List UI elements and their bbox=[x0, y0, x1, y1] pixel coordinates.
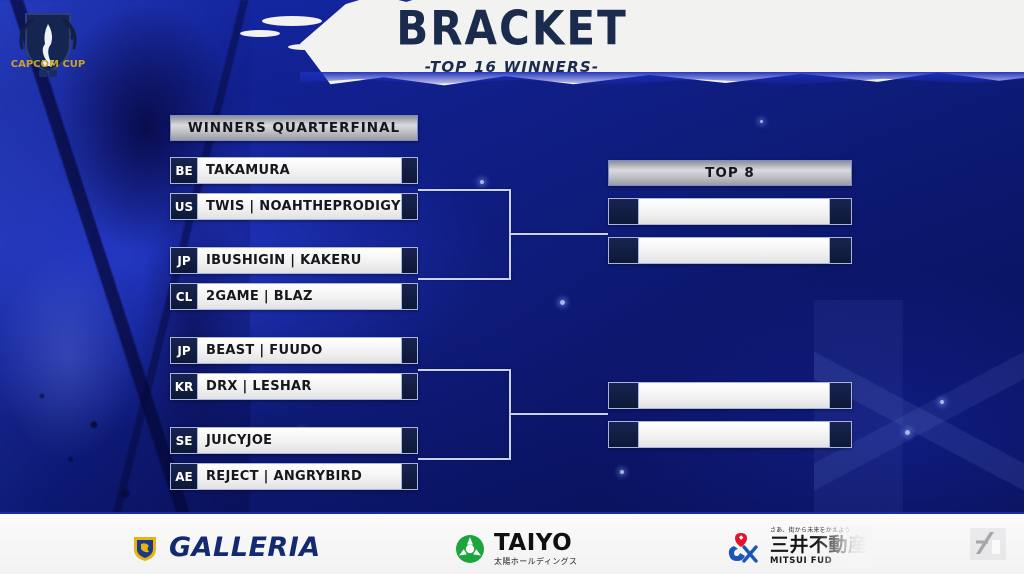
svg-text:CAPCOM CUP: CAPCOM CUP bbox=[11, 59, 85, 70]
taiyo-logo-icon bbox=[455, 534, 485, 564]
sponsor-tagline: さあ、街から未来をかえよう bbox=[770, 528, 868, 534]
player-name bbox=[639, 199, 829, 224]
score-box bbox=[401, 194, 417, 219]
bracket-slot-top8[interactable] bbox=[608, 382, 852, 409]
round-header-winners-quarterfinal: WINNERS QUARTERFINAL bbox=[170, 115, 418, 141]
bracket-slot-top8[interactable] bbox=[608, 198, 852, 225]
country-code bbox=[609, 238, 639, 263]
bracket-slot[interactable]: KR DRX | LESHAR bbox=[170, 373, 418, 400]
country-code: JP bbox=[171, 248, 198, 273]
player-name: IBUSHIGIN | KAKERU bbox=[198, 248, 401, 273]
bracket-slot[interactable]: BE TAKAMURA bbox=[170, 157, 418, 184]
score-box bbox=[401, 158, 417, 183]
player-name bbox=[639, 383, 829, 408]
score-box bbox=[401, 464, 417, 489]
sparkle bbox=[620, 470, 624, 474]
country-code: CL bbox=[171, 284, 198, 309]
mitsui-ampersand-icon bbox=[725, 530, 761, 564]
round-header-top-8: TOP 8 bbox=[608, 160, 852, 186]
banner-wisp bbox=[262, 16, 322, 26]
player-name: JUICYJOE bbox=[198, 428, 401, 453]
country-code: JP bbox=[171, 338, 198, 363]
player-name: TAKAMURA bbox=[198, 158, 401, 183]
player-name bbox=[639, 422, 829, 447]
bracket-slot[interactable]: CL 2GAME | BLAZ bbox=[170, 283, 418, 310]
sponsor-text-block: TAIYO 太陽ホールディングス bbox=[494, 532, 577, 566]
sponsor-name: GALLERIA bbox=[169, 532, 321, 563]
bracket-slot[interactable]: SE JUICYJOE bbox=[170, 427, 418, 454]
score-box bbox=[401, 374, 417, 399]
sponsor-galleria: GALLERIA bbox=[130, 532, 321, 563]
score-box bbox=[401, 338, 417, 363]
bracket-slot-top8[interactable] bbox=[608, 237, 852, 264]
player-name: DRX | LESHAR bbox=[198, 374, 401, 399]
banner-wisp bbox=[288, 44, 322, 50]
player-name: 2GAME | BLAZ bbox=[198, 284, 401, 309]
bracket-slot[interactable]: US TWIS | NOAHTHEPRODIGY bbox=[170, 193, 418, 220]
score-box bbox=[401, 248, 417, 273]
country-code: US bbox=[171, 194, 198, 219]
country-code bbox=[609, 383, 639, 408]
player-name: TWIS | NOAHTHEPRODIGY bbox=[198, 194, 401, 219]
bracket-connector bbox=[418, 458, 511, 460]
bracket-connector bbox=[418, 278, 511, 280]
sparkle bbox=[905, 430, 910, 435]
country-code: AE bbox=[171, 464, 198, 489]
capcom-cup-logo: CAPCOM CUP bbox=[6, 4, 90, 82]
bracket-slot[interactable]: JP IBUSHIGIN | KAKERU bbox=[170, 247, 418, 274]
country-code bbox=[609, 199, 639, 224]
score-box bbox=[829, 383, 851, 408]
score-box bbox=[829, 199, 851, 224]
galleria-shield-icon bbox=[130, 533, 160, 563]
bracket-slot[interactable]: JP BEAST | FUUDO bbox=[170, 337, 418, 364]
sparkle bbox=[760, 120, 763, 123]
sponsor-taiyo: TAIYO 太陽ホールディングス bbox=[455, 532, 577, 566]
sponsor-mitsui: さあ、街から未来をかえよう 三井不動産 MITSUI FUD bbox=[725, 528, 868, 566]
sponsor-footer: GALLERIA TAIYO 太陽ホールディングス bbox=[0, 512, 1024, 574]
bracket-connector bbox=[418, 189, 511, 191]
sparkle bbox=[940, 400, 944, 404]
page-title: BRACKET bbox=[396, 5, 628, 52]
player-name: REJECT | ANGRYBIRD bbox=[198, 464, 401, 489]
sponsor-corner-mark bbox=[966, 524, 1010, 564]
partial-logo-icon bbox=[966, 524, 1010, 564]
sparkle bbox=[560, 300, 565, 305]
broadcast-overlay: BRACKET -TOP 16 WINNERS- CAPCOM CUP WINN… bbox=[0, 0, 1024, 574]
bracket-slot-top8[interactable] bbox=[608, 421, 852, 448]
bracket-slot[interactable]: AE REJECT | ANGRYBIRD bbox=[170, 463, 418, 490]
bracket-connector bbox=[509, 233, 608, 235]
bracket-connector bbox=[509, 413, 608, 415]
sponsor-name: TAIYO bbox=[494, 532, 577, 555]
country-code: BE bbox=[171, 158, 198, 183]
player-name: BEAST | FUUDO bbox=[198, 338, 401, 363]
player-name bbox=[639, 238, 829, 263]
bracket-connector bbox=[418, 369, 511, 371]
score-box bbox=[401, 428, 417, 453]
score-box bbox=[401, 284, 417, 309]
sparkle bbox=[480, 180, 484, 184]
sponsor-subtitle: MITSUI FUD bbox=[770, 557, 868, 566]
banner-bottom-edge bbox=[300, 72, 1024, 88]
sponsor-subtitle: 太陽ホールディングス bbox=[494, 558, 577, 566]
sponsor-text-block: さあ、街から未来をかえよう 三井不動産 MITSUI FUD bbox=[770, 528, 868, 566]
country-code: SE bbox=[171, 428, 198, 453]
sponsor-name: 三井不動産 bbox=[770, 536, 868, 555]
country-code bbox=[609, 422, 639, 447]
country-code: KR bbox=[171, 374, 198, 399]
score-box bbox=[829, 238, 851, 263]
background-artwork-right bbox=[814, 300, 1024, 530]
banner-brush-shape bbox=[300, 0, 1024, 90]
score-box bbox=[829, 422, 851, 447]
